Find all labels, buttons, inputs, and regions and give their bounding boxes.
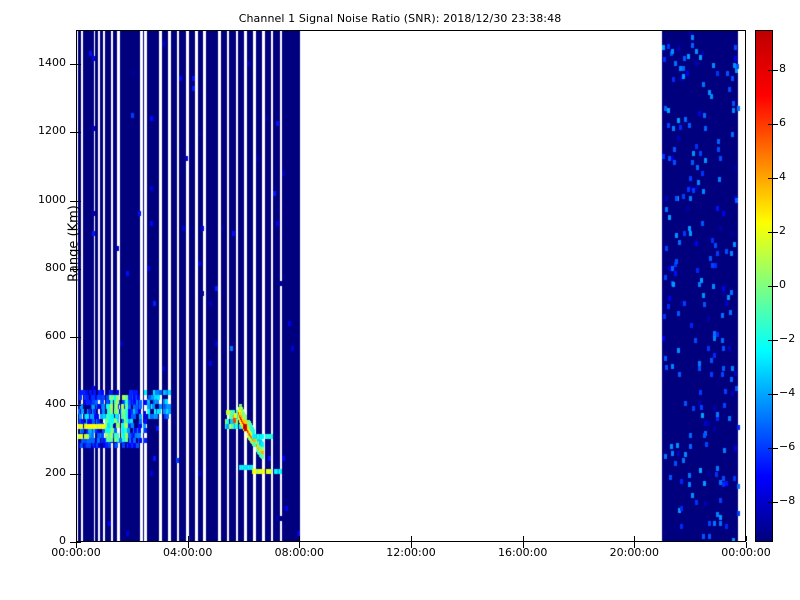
x-tick-mark-inner (411, 536, 412, 541)
x-tick-mark (411, 542, 412, 548)
x-tick-mark (299, 542, 300, 548)
colorbar-tick-mark-inner (768, 394, 773, 395)
x-tick-mark-inner (76, 536, 77, 541)
snr-range-time-intensity-figure: Channel 1 Signal Noise Ratio (SNR): 2018… (0, 0, 800, 600)
x-tick-mark-inner (299, 536, 300, 541)
x-tick-mark-inner (746, 536, 747, 541)
colorbar-tick-mark (773, 340, 778, 341)
colorbar-tick-label: 8 (779, 62, 800, 75)
y-tick-label: 200 (20, 466, 66, 479)
colorbar-tick-mark (773, 394, 778, 395)
page-title: Channel 1 Signal Noise Ratio (SNR): 2018… (0, 12, 800, 25)
heatmap-canvas (77, 31, 745, 541)
colorbar-tick-mark-inner (768, 124, 773, 125)
colorbar-tick-mark-inner (768, 286, 773, 287)
x-tick-mark-inner (188, 536, 189, 541)
y-tick-label: 1200 (20, 124, 66, 137)
x-tick-mark-inner (523, 536, 524, 541)
colorbar-tick-label: −4 (779, 386, 800, 399)
x-tick-mark-inner (634, 536, 635, 541)
y-tick-mark (70, 201, 76, 202)
x-tick-mark (188, 542, 189, 548)
x-tick-mark (634, 542, 635, 548)
colorbar-tick-mark (773, 448, 778, 449)
y-tick-mark-inner (77, 337, 81, 338)
colorbar-tick-label: 0 (779, 278, 800, 291)
colorbar-tick-mark (773, 178, 778, 179)
colorbar-tick-label: 6 (779, 116, 800, 129)
colorbar-tick-mark (773, 70, 778, 71)
y-tick-mark-inner (77, 201, 81, 202)
y-tick-mark-inner (77, 542, 81, 543)
colorbar-tick-mark-inner (768, 232, 773, 233)
colorbar-tick-label: −6 (779, 440, 800, 453)
colorbar-tick-mark (773, 124, 778, 125)
y-tick-label: 800 (20, 261, 66, 274)
colorbar-tick-mark (773, 502, 778, 503)
y-tick-label: 1000 (20, 193, 66, 206)
colorbar-tick-mark-inner (768, 448, 773, 449)
colorbar-tick-mark-inner (768, 70, 773, 71)
y-axis-label: Range (Km) (67, 164, 82, 324)
colorbar-tick-mark (773, 232, 778, 233)
y-tick-mark-inner (77, 405, 81, 406)
colorbar-tick-label: 4 (779, 170, 800, 183)
y-tick-mark-inner (77, 64, 81, 65)
colorbar-tick-mark-inner (768, 502, 773, 503)
y-tick-mark (70, 474, 76, 475)
y-tick-mark (70, 64, 76, 65)
colorbar-tick-label: −2 (779, 332, 800, 345)
y-tick-label: 400 (20, 397, 66, 410)
x-tick-mark (76, 542, 77, 548)
colorbar-tick-mark-inner (768, 178, 773, 179)
y-tick-label: 600 (20, 329, 66, 342)
x-tick-mark (746, 542, 747, 548)
y-tick-label: 1400 (20, 56, 66, 69)
y-tick-mark (70, 405, 76, 406)
y-tick-mark (70, 132, 76, 133)
y-tick-mark-inner (77, 474, 81, 475)
y-tick-mark-inner (77, 132, 81, 133)
y-tick-mark (70, 269, 76, 270)
colorbar-tick-label: −8 (779, 494, 800, 507)
x-tick-mark (523, 542, 524, 548)
plot-area[interactable] (76, 30, 746, 542)
y-tick-mark (70, 337, 76, 338)
colorbar-tick-label: 2 (779, 224, 800, 237)
colorbar-tick-mark (773, 286, 778, 287)
y-tick-mark-inner (77, 269, 81, 270)
colorbar-tick-mark-inner (768, 340, 773, 341)
